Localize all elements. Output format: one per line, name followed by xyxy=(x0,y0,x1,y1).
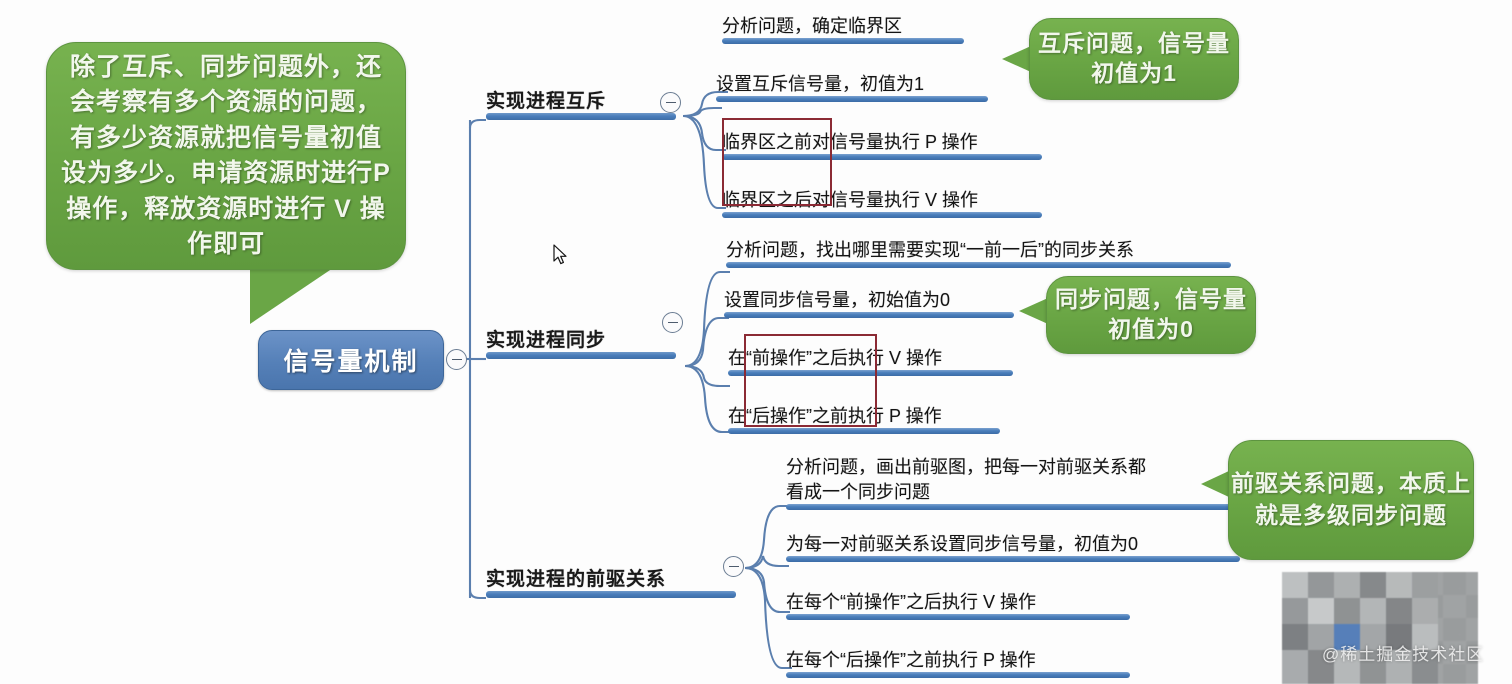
branch-3-collapse-toggle[interactable] xyxy=(723,556,744,577)
callout-2-text: 同步问题，信号量初值为0 xyxy=(1047,285,1255,345)
branch-node-3[interactable]: 实现进程的前驱关系 xyxy=(486,562,736,598)
callout-3-text: 前驱关系问题，本质上就是多级同步问题 xyxy=(1229,468,1473,531)
leaf-node-3-4-label: 在每个“后操作”之前执行 P 操作 xyxy=(786,648,1036,672)
leaf-node-1-4-underline xyxy=(722,212,1042,218)
branch-node-2-label: 实现进程同步 xyxy=(486,325,606,352)
branch-node-1-label: 实现进程互斥 xyxy=(486,86,606,113)
leaf-node-1-2-underline xyxy=(716,96,988,102)
leaf-node-2-2[interactable]: 设置同步信号量，初始值为0 xyxy=(724,282,1014,318)
callout-2-tail xyxy=(1019,298,1048,324)
leaf-node-1-1[interactable]: 分析问题，确定临界区 xyxy=(722,8,964,44)
leaf-node-2-1-label: 分析问题，找出哪里需要实现“一前一后”的同步关系 xyxy=(726,238,1134,262)
branch-node-1-underline xyxy=(486,113,676,120)
watermark-text: @稀土掘金技术社区 xyxy=(1322,640,1484,665)
leaf-node-3-1-label: 分析问题，画出前驱图，把每一对前驱关系都 看成一个同步问题 xyxy=(786,455,1146,504)
callout-mutex: 互斥问题，信号量初值为1 xyxy=(1029,18,1239,100)
callout-main-text: 除了互斥、同步问题外，还会考察有多个资源的问题，有多少资源就把信号量初值设为多少… xyxy=(61,50,391,263)
branch-node-2[interactable]: 实现进程同步 xyxy=(486,323,676,359)
callout-1-tail xyxy=(1002,46,1031,72)
highlight-box-1 xyxy=(722,118,832,206)
callout-main-tail xyxy=(250,262,342,324)
leaf-node-2-4-underline xyxy=(728,428,1000,434)
leaf-node-2-2-label: 设置同步信号量，初始值为0 xyxy=(724,288,950,312)
minus-icon xyxy=(729,566,739,568)
minus-icon xyxy=(668,322,678,324)
root-node-label: 信号量机制 xyxy=(283,342,418,378)
leaf-node-1-1-underline xyxy=(722,38,964,44)
mosaic-block xyxy=(1282,572,1478,684)
leaf-node-3-1-underline xyxy=(786,504,1231,510)
callout-sync: 同步问题，信号量初值为0 xyxy=(1046,276,1256,354)
branch-node-2-underline xyxy=(486,352,676,359)
leaf-node-1-2[interactable]: 设置互斥信号量，初值为1 xyxy=(716,66,988,102)
minus-icon xyxy=(666,102,676,104)
leaf-node-3-2-label: 为每一对前驱关系设置同步信号量，初值为0 xyxy=(786,532,1138,556)
leaf-node-2-1[interactable]: 分析问题，找出哪里需要实现“一前一后”的同步关系 xyxy=(726,232,1231,268)
branch-2-collapse-toggle[interactable] xyxy=(662,312,683,333)
mouse-cursor xyxy=(553,244,569,266)
leaf-node-3-3-label: 在每个“前操作”之后执行 V 操作 xyxy=(786,590,1036,614)
highlight-box-2 xyxy=(744,334,877,427)
leaf-node-2-1-underline xyxy=(726,262,1231,268)
leaf-node-3-2-underline xyxy=(786,556,1240,562)
leaf-node-3-3[interactable]: 在每个“前操作”之后执行 V 操作 xyxy=(786,584,1130,620)
branch-node-3-underline xyxy=(486,591,736,598)
leaf-node-3-1[interactable]: 分析问题，画出前驱图，把每一对前驱关系都 看成一个同步问题 xyxy=(786,448,1231,510)
callout-main: 除了互斥、同步问题外，还会考察有多个资源的问题，有多少资源就把信号量初值设为多少… xyxy=(46,42,406,270)
root-node[interactable]: 信号量机制 xyxy=(258,330,444,390)
leaf-node-1-1-label: 分析问题，确定临界区 xyxy=(722,14,902,38)
callout-precedence: 前驱关系问题，本质上就是多级同步问题 xyxy=(1228,440,1474,560)
leaf-node-1-2-label: 设置互斥信号量，初值为1 xyxy=(716,72,924,96)
leaf-node-3-2[interactable]: 为每一对前驱关系设置同步信号量，初值为0 xyxy=(786,526,1240,562)
branch-node-3-label: 实现进程的前驱关系 xyxy=(486,564,666,591)
leaf-node-2-2-underline xyxy=(724,312,1014,318)
callout-1-text: 互斥问题，信号量初值为1 xyxy=(1030,29,1238,89)
minus-icon xyxy=(452,359,462,361)
callout-3-tail xyxy=(1201,470,1231,498)
leaf-node-3-3-underline xyxy=(786,614,1130,620)
leaf-node-3-4[interactable]: 在每个“后操作”之前执行 P 操作 xyxy=(786,642,1130,678)
branch-1-collapse-toggle[interactable] xyxy=(660,92,681,113)
leaf-node-3-4-underline xyxy=(786,672,1130,678)
branch-node-1[interactable]: 实现进程互斥 xyxy=(486,84,676,120)
mindmap-canvas: 信号量机制 实现进程互斥 分析问题，确定临界区 设置互斥信号量，初值为1 临界区… xyxy=(0,0,1512,684)
root-collapse-toggle[interactable] xyxy=(446,349,467,370)
